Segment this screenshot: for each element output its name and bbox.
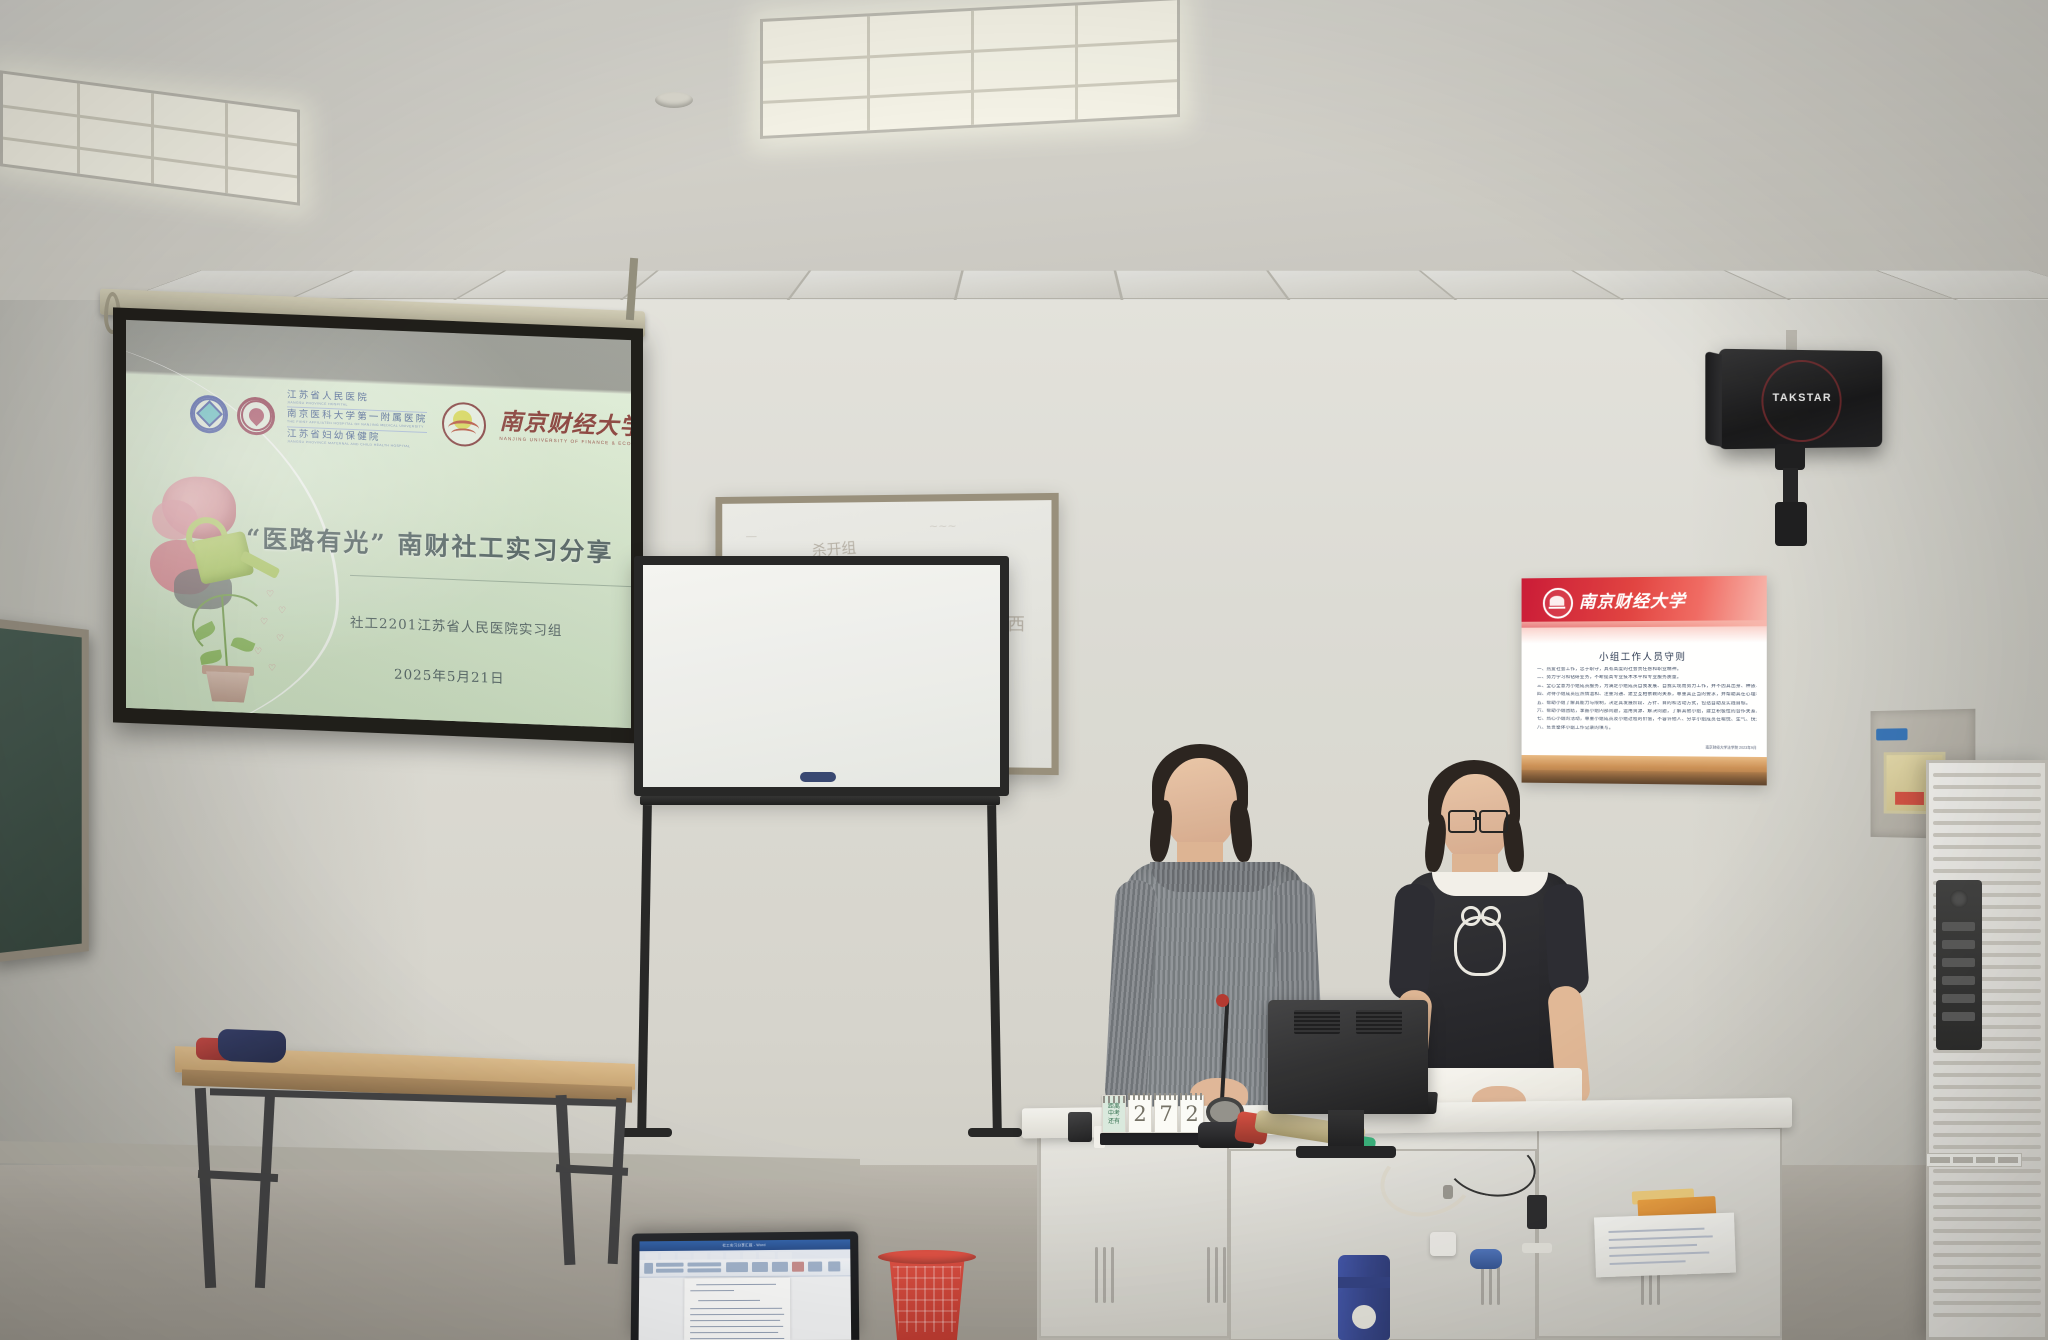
poster-title: 小组工作人员守则 [1522, 649, 1767, 664]
ac-louver [1933, 1145, 2041, 1149]
word-ribbon-toolbar[interactable] [639, 1258, 850, 1277]
slide-subtitle-group: 社工2201江苏省人民医院实习组 [350, 611, 562, 640]
whiteboard-marker-tray [640, 796, 1000, 805]
slide-divider [350, 575, 631, 588]
whiteboard-foot-right [968, 1128, 1022, 1137]
fluorescent-panel-center-icon [760, 0, 1180, 139]
ac-louver [1933, 1193, 2041, 1197]
desk-small-black-box [1068, 1112, 1092, 1142]
whiteboard-foot-left [618, 1128, 672, 1137]
presenter-right-collar [1432, 872, 1548, 896]
ac-louver [1933, 1313, 2041, 1317]
ac-louver [1933, 1133, 2041, 1137]
blue-thermos-bottle [1338, 1255, 1390, 1340]
document-stack [1594, 1213, 1736, 1278]
ac-louver [1933, 1289, 2041, 1293]
presenter-left-head [1164, 758, 1237, 850]
whiteboard-marker [800, 772, 836, 782]
ac-louver [1933, 1061, 2041, 1065]
podium-door-left[interactable] [1039, 1127, 1229, 1338]
monitor-rear [1268, 1000, 1428, 1114]
ac-louver [1933, 1085, 2041, 1089]
ac-louver [1933, 797, 2041, 801]
poster-rule: 八、负责整体小组工作记录的填写。 [1537, 725, 1757, 732]
hospital-name-block: 江苏省人民医院 JIANGSU PROVINCE HOSPITAL 南京医科大学… [284, 390, 427, 449]
power-plug [1527, 1195, 1547, 1229]
countdown-label-2: 中考 [1108, 1110, 1120, 1118]
fluorescent-panel-left-icon [0, 70, 300, 205]
ac-display-icon [1950, 890, 1968, 908]
poster-rule: 四、对待小组成员应热情温和、注重沟通、建立互相依赖的关系，尊重其正当的要求，并帮… [1537, 692, 1757, 699]
ac-louver [1933, 1217, 2041, 1221]
speaker-mount-top [1775, 444, 1805, 470]
presenter-right-sleeve-right [1542, 883, 1590, 998]
ac-louver [1933, 1253, 2041, 1257]
ac-louver [1933, 1277, 2041, 1281]
podium-asset-sticker [1926, 1153, 2022, 1167]
presenter-left-hood [1150, 862, 1280, 892]
ac-louver [1933, 773, 2041, 777]
speaker-brand-label: TAKSTAR [1719, 392, 1882, 404]
ac-louver [1933, 1073, 2041, 1077]
poster-rule: 一、热爱社会工作，忠于职守，具有高度的社会责任感和职业精神。 [1537, 667, 1757, 673]
panel-blue-label [1876, 728, 1907, 740]
ac-button[interactable] [1942, 976, 1975, 985]
ceiling-tile [623, 270, 810, 298]
nufe-name-cn: 南京财经大学 [499, 410, 631, 439]
ac-louver [1933, 869, 2041, 873]
word-document-page[interactable] [684, 1278, 790, 1340]
whiteboard-note-2: 西 [1008, 610, 1025, 635]
countdown-digit: 2 [1128, 1095, 1152, 1133]
wall-poster: 南京财经大学 小组工作人员守则 一、热爱社会工作，忠于职守，具有高度的社会责任感… [1522, 576, 1767, 786]
countdown-flip-calendar: 距离 中考 还有 2 7 2 [1100, 1093, 1210, 1145]
ac-control-panel[interactable] [1936, 880, 1982, 1050]
ac-louver [1933, 1301, 2041, 1305]
ac-louver [1933, 809, 2041, 813]
poster-rule: 三、全心全意为小组成员服务，为满足小组成员自我发展、自我实现而努力工作，并不因其… [1537, 684, 1757, 690]
waste-bin-mesh [888, 1266, 966, 1332]
slide-subtitle-date: 2025年5月21日 [394, 663, 505, 687]
word-document-title: 社工实习分享汇报 - Word [722, 1243, 765, 1248]
ac-button[interactable] [1942, 922, 1975, 931]
ceiling-tile [1115, 270, 1288, 298]
ceiling [0, 0, 2048, 330]
classroom-photo: ♡ ♡ ♡ ♡ ♡ ♡ 江苏省人民医院 JIANGSU PROVINCE HOS… [0, 0, 2048, 1340]
wireless-mouse[interactable] [1470, 1249, 1502, 1269]
poster-brand: 南京财经大学 [1579, 593, 1686, 611]
ac-louver [1933, 1109, 2041, 1113]
monitor-base [1296, 1146, 1396, 1158]
slide-illustration: ♡ ♡ ♡ ♡ ♡ ♡ [148, 473, 308, 709]
poster-rule: 七、热心小组的活动，尊重小组成员及小组过程的价值，不容许他人、分享小组成员在喻悦… [1537, 717, 1757, 724]
jiangsu-hospital-seal-blue-icon [190, 394, 228, 434]
mobile-whiteboard [634, 556, 1009, 796]
poster-signature: 南京财经大学法学院 2023年9月 [1705, 745, 1756, 750]
ac-louver [1933, 1121, 2041, 1125]
ac-louver [1933, 1265, 2041, 1269]
ac-louver [1933, 821, 2041, 825]
ac-louver [1933, 1241, 2041, 1245]
ceiling-tile [789, 270, 962, 298]
ac-louver [1933, 857, 2041, 861]
countdown-digit: 7 [1154, 1095, 1178, 1133]
maternal-health-seal-red-icon [237, 396, 275, 436]
laptop-screen: 社工实习分享汇报 - Word [639, 1239, 852, 1340]
ac-button[interactable] [1942, 1012, 1975, 1021]
usb-stick [1522, 1243, 1552, 1253]
poster-rule: 二、努力学习和钻研业务，不断提高专业技术水平和专业服务质量。 [1537, 675, 1757, 681]
shirt-print-icon [1454, 916, 1506, 976]
ac-button[interactable] [1942, 940, 1975, 949]
smoke-detector-icon [655, 92, 693, 108]
waste-bin-rim [878, 1250, 976, 1264]
power-adapter [1430, 1232, 1456, 1256]
countdown-label-3: 还有 [1108, 1118, 1120, 1126]
poster-rule: 六、帮助小组团结，掌握小组内部问题，运用资源、解决问题，了解其他小组，建立积极性… [1537, 709, 1757, 716]
glasses-lens-left-icon [1448, 810, 1477, 833]
green-chalkboard [0, 618, 89, 963]
wall-speaker: TAKSTAR [1719, 349, 1882, 449]
speaker-mount-bracket [1775, 502, 1807, 546]
poster-footer-image [1522, 755, 1767, 785]
air-conditioner-unit [1926, 760, 2048, 1340]
glasses-bridge-icon [1473, 817, 1481, 820]
ac-button[interactable] [1942, 994, 1975, 1003]
ac-louver [1933, 1205, 2041, 1209]
ac-louver [1933, 1169, 2041, 1173]
ac-louver [1933, 845, 2041, 849]
poster-rule-list: 一、热爱社会工作，忠于职守，具有高度的社会责任感和职业精神。 二、努力学习和钻研… [1537, 667, 1757, 733]
nufe-seal-icon [1543, 587, 1573, 618]
ac-louver [1933, 833, 2041, 837]
ac-louver [1933, 1229, 2041, 1233]
poster-rule: 五、帮助小组了解其能力与限制，决定其发展阶段、方针、目的和活动方式，包括自助及实… [1537, 700, 1757, 707]
ac-louver [1933, 785, 2041, 789]
projector-screen: ♡ ♡ ♡ ♡ ♡ ♡ 江苏省人民医院 JIANGSU PROVINCE HOS… [126, 320, 631, 728]
ac-louver [1933, 1097, 2041, 1101]
presenter-right-sleeve-left [1388, 883, 1436, 1002]
laptop[interactable]: 社工实习分享汇报 - Word [631, 1231, 860, 1340]
glasses-lens-right-icon [1479, 810, 1508, 833]
presentation-slide: ♡ ♡ ♡ ♡ ♡ ♡ 江苏省人民医院 JIANGSU PROVINCE HOS… [126, 374, 631, 728]
navy-backpack [218, 1029, 286, 1063]
nufe-emblem-icon [442, 401, 486, 447]
ac-button[interactable] [1942, 958, 1975, 967]
ac-louver [1933, 1181, 2041, 1185]
ceiling-tile [955, 270, 1121, 298]
nufe-wordmark: 南京财经大学 NANJING UNIVERSITY OF FINANCE & E… [499, 410, 631, 447]
microphone-head-icon [1216, 994, 1229, 1007]
